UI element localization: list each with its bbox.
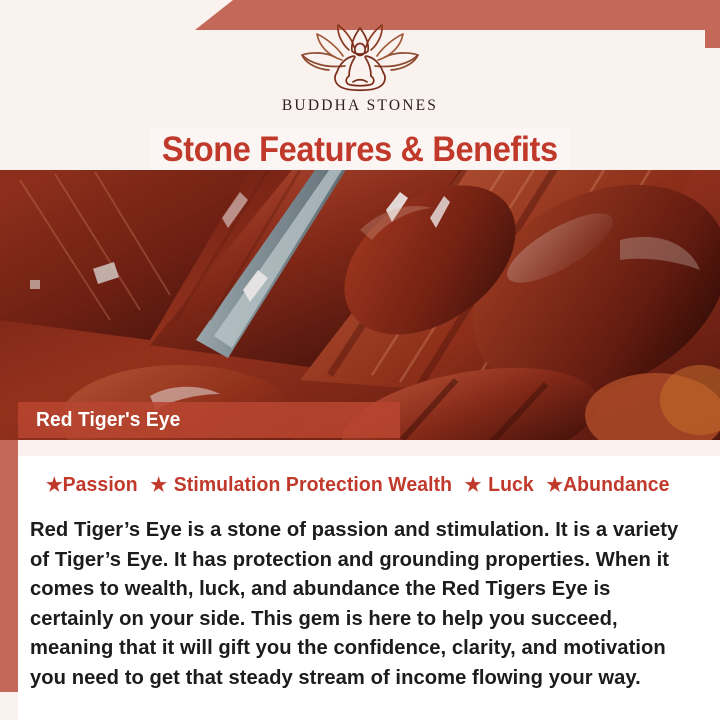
stone-photo-graphic: [0, 170, 720, 440]
stone-photo: [0, 170, 720, 440]
keyword-label: Abundance: [563, 474, 670, 496]
brand-logo: BUDDHA STONES: [0, 22, 720, 122]
keyword-list: ★Passion★Stimulation Protection Wealth★L…: [46, 474, 667, 497]
lotus-meditation-figure-icon: [285, 22, 435, 94]
content-panel-tint: [18, 440, 720, 456]
description-text: Red Tiger’s Eye is a stone of passion an…: [30, 515, 682, 692]
stone-name-band: Red Tiger's Eye: [18, 402, 400, 438]
keyword-label: Passion: [63, 474, 138, 496]
brand-name: BUDDHA STONES: [282, 97, 438, 115]
star-icon: ★: [546, 475, 563, 496]
stone-name: Red Tiger's Eye: [36, 409, 180, 432]
star-icon: ★: [150, 475, 167, 496]
keyword-label: Luck: [488, 474, 534, 496]
page-title: Stone Features & Benefits: [162, 130, 558, 170]
keyword-label: Stimulation Protection Wealth: [174, 474, 452, 496]
star-icon: ★: [465, 475, 482, 496]
infographic-page: BUDDHA STONES Stone Features & Benefits: [0, 0, 720, 720]
left-edge-strip: [0, 430, 18, 692]
star-icon: ★: [46, 475, 63, 496]
page-title-box: Stone Features & Benefits: [150, 128, 570, 172]
